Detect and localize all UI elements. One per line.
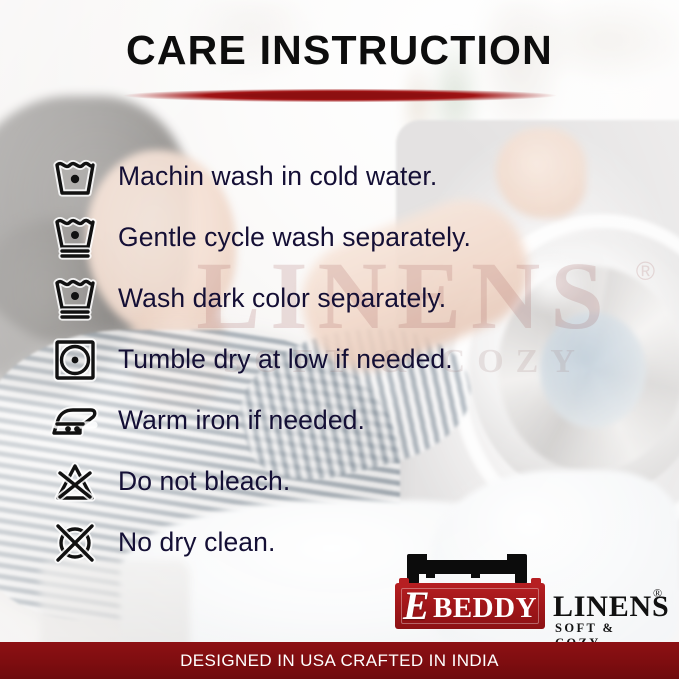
footer-banner: DESIGNED IN USA CRAFTED IN INDIA <box>0 642 679 679</box>
list-item-label: No dry clean. <box>106 527 275 558</box>
no-dry-clean-icon <box>44 521 106 565</box>
list-item-label: Do not bleach. <box>106 466 290 497</box>
list-item-label: Gentle cycle wash separately. <box>106 222 471 253</box>
do-not-bleach-icon <box>44 461 106 503</box>
footer-text: DESIGNED IN USA CRAFTED IN INDIA <box>180 651 499 671</box>
care-instruction-card: LINENS SOFT & COZY ® CARE INSTRUCTION Ma… <box>0 0 679 679</box>
warm-iron-icon <box>44 403 106 439</box>
list-item-label: Tumble dry at low if needed. <box>106 344 453 375</box>
wash-dark-separately-icon <box>44 276 106 322</box>
title-divider <box>123 89 557 102</box>
list-item: Wash dark color separately. <box>44 268 604 329</box>
page-title: CARE INSTRUCTION <box>0 27 679 74</box>
tumble-dry-low-icon <box>44 338 106 382</box>
logo-initial: E <box>403 582 430 629</box>
list-item: Machin wash in cold water. <box>44 146 604 207</box>
logo-brand-name: BEDDY <box>433 592 537 625</box>
list-item-label: Wash dark color separately. <box>106 283 446 314</box>
list-item: Gentle cycle wash separately. <box>44 207 604 268</box>
banner-notch-right <box>531 578 541 588</box>
list-item: Tumble dry at low if needed. <box>44 329 604 390</box>
registered-mark-icon: ® <box>653 586 662 601</box>
list-item-label: Machin wash in cold water. <box>106 161 437 192</box>
instruction-list: Machin wash in cold water. Gentle cycle … <box>44 146 604 573</box>
gentle-cycle-wash-icon <box>44 215 106 261</box>
brand-logo: E BEDDY LINENS ® SOFT & COZY <box>395 548 663 634</box>
list-item: Do not bleach. <box>44 451 604 512</box>
list-item-label: Warm iron if needed. <box>106 405 365 436</box>
list-item: Warm iron if needed. <box>44 390 604 451</box>
machine-wash-cold-icon <box>44 157 106 197</box>
